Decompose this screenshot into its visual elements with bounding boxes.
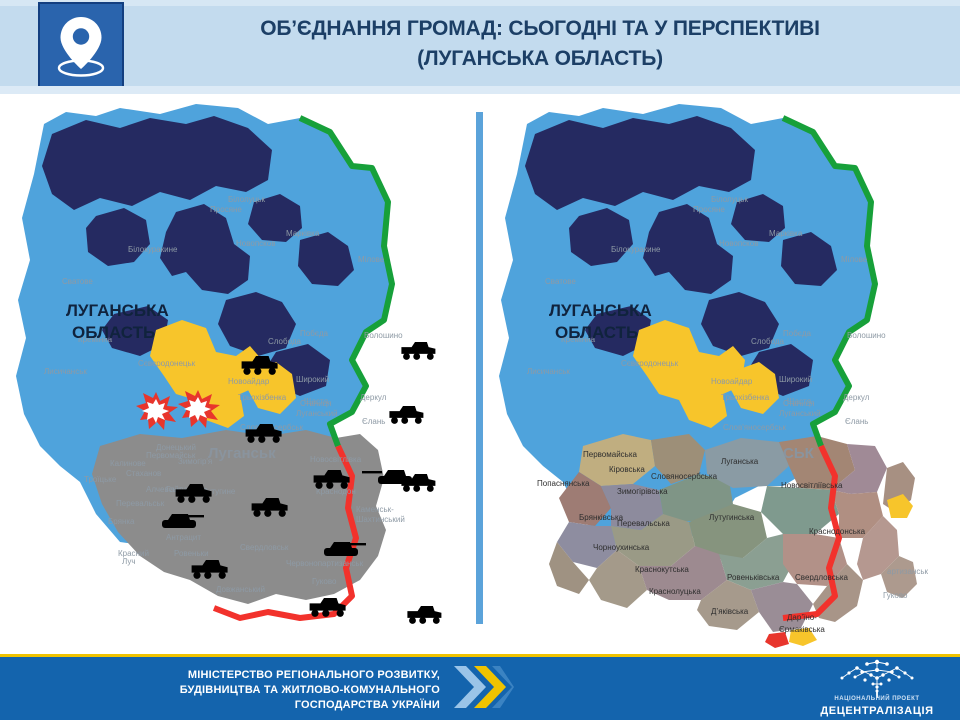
svg-text:Первомайська: Первомайська — [583, 450, 638, 459]
svg-text:Каменськ-: Каменськ- — [356, 505, 394, 514]
svg-text:Зимогірівська: Зимогірівська — [617, 487, 668, 496]
decentralization-tree-icon — [831, 656, 923, 698]
svg-text:Сєвєродонецьк: Сєвєродонецьк — [138, 359, 196, 368]
svg-text:Словяносербська: Словяносербська — [651, 472, 718, 481]
map-right-svg[interactable]: Білолуцьк Просяне Марківка Новопсков Міл… — [483, 94, 960, 654]
svg-text:Станиця: Станиця — [300, 399, 332, 408]
svg-text:Чорноухинська: Чорноухинська — [593, 543, 650, 552]
ministry-name: МІНІСТЕРСТВО РЕГІОНАЛЬНОГО РОЗВИТКУ, БУД… — [20, 668, 440, 713]
svg-text:Гуково: Гуково — [883, 591, 908, 600]
svg-text:Трьохізбенка: Трьохізбенка — [238, 393, 287, 402]
svg-text:Сєвєродонецьк: Сєвєродонецьк — [621, 359, 679, 368]
svg-text:Стаханов: Стаханов — [126, 469, 161, 478]
header-bottom-strip — [0, 86, 960, 94]
double-chevron-icon — [452, 664, 514, 710]
svg-text:Антрацит: Антрацит — [166, 533, 201, 542]
page-title-line1: ОБ’ЄДНАННЯ ГРОМАД: СЬОГОДНІ ТА У ПЕРСПЕК… — [150, 14, 930, 44]
svg-text:Побєда: Побєда — [300, 329, 329, 338]
city-label-luhansk: Луганськ — [208, 445, 276, 462]
svg-text:Просяне: Просяне — [693, 205, 725, 214]
svg-text:артизанськ: артизанськ — [887, 567, 929, 576]
ministry-line-2: БУДІВНИЦТВА ТА ЖИТЛОВО-КОМУНАЛЬНОГО — [20, 683, 440, 698]
svg-text:Троїцьке: Троїцьке — [84, 475, 117, 484]
location-pin-icon — [50, 13, 112, 79]
svg-text:Краснокутська: Краснокутська — [635, 565, 689, 574]
svg-text:Слобода: Слобода — [751, 337, 785, 346]
svg-text:Новосвітлівка: Новосвітлівка — [310, 455, 362, 464]
slide-footer: МІНІСТЕРСТВО РЕГІОНАЛЬНОГО РОЗВИТКУ, БУД… — [0, 654, 960, 720]
svg-text:Мілове: Мілове — [841, 255, 868, 264]
svg-text:ЛУГАНСЬКА: ЛУГАНСЬКА — [66, 301, 169, 320]
svg-text:Просяне: Просяне — [210, 205, 242, 214]
svg-text:Попаснянська: Попаснянська — [537, 479, 590, 488]
project-name: ДЕЦЕНТРАЛІЗАЦІЯ — [802, 705, 952, 717]
svg-text:Калинове: Калинове — [110, 459, 146, 468]
svg-text:Ровеньківська: Ровеньківська — [727, 573, 780, 582]
svg-text:Краснолуцька: Краснолуцька — [649, 587, 701, 596]
svg-text:Лисичанськ: Лисичанськ — [527, 367, 570, 376]
svg-text:Брянка: Брянка — [108, 517, 135, 526]
slide-root: ОБ’ЄДНАННЯ ГРОМАД: СЬОГОДНІ ТА У ПЕРСПЕК… — [0, 0, 960, 720]
svg-text:Єрмаківська: Єрмаківська — [779, 625, 825, 634]
svg-text:Новоайдар: Новоайдар — [711, 377, 753, 386]
svg-text:Лисичанськ: Лисичанськ — [44, 367, 87, 376]
svg-text:Свердловськ: Свердловськ — [240, 543, 289, 552]
decentralization-logo: НАЦІОНАЛЬНИЙ ПРОЕКТ ДЕЦЕНТРАЛІЗАЦІЯ — [802, 656, 952, 720]
header-top-strip — [0, 0, 960, 6]
svg-text:Єлань: Єлань — [362, 417, 385, 426]
svg-text:Волошино: Волошино — [364, 331, 403, 340]
page-title-line2: (ЛУГАНСЬКА ОБЛАСТЬ) — [150, 44, 930, 74]
svg-text:Білокуракине: Білокуракине — [611, 245, 661, 254]
svg-text:Перевальська: Перевальська — [617, 519, 670, 528]
svg-text:Червонопартизанськ: Червонопартизанськ — [286, 559, 364, 568]
svg-text:Луганська: Луганська — [721, 457, 759, 466]
svg-text:Луганський: Луганський — [296, 409, 338, 418]
svg-text:Білолуцьк: Білолуцьк — [711, 195, 748, 204]
map-left-panel[interactable]: Білолуцьк Просяне Марківка Новопсков Міл… — [0, 94, 476, 654]
svg-text:Д’яківська: Д’яківська — [711, 607, 749, 616]
svg-text:Слов'яносербськ: Слов'яносербськ — [723, 423, 787, 432]
ministry-line-3: ГОСПОДАРСТВА УКРАЇНИ — [20, 698, 440, 713]
svg-text:Сватове: Сватове — [545, 277, 576, 286]
svg-text:Деркул: Деркул — [843, 393, 870, 402]
maps-container: Білолуцьк Просяне Марківка Новопсков Міл… — [0, 94, 960, 654]
svg-text:Сватове: Сватове — [62, 277, 93, 286]
svg-text:Волошино: Волошино — [847, 331, 886, 340]
svg-text:Новосвітліївська: Новосвітліївська — [781, 481, 843, 490]
svg-text:Довжанський: Довжанський — [216, 585, 265, 594]
svg-text:Перевальськ: Перевальськ — [116, 499, 165, 508]
svg-text:ОБЛАСТЬ: ОБЛАСТЬ — [72, 323, 155, 342]
svg-text:Краснодон: Краснодон — [316, 487, 356, 496]
svg-text:Луч: Луч — [122, 557, 136, 566]
svg-text:Мілове: Мілове — [358, 255, 385, 264]
svg-text:Станиця: Станиця — [783, 399, 815, 408]
map-left-svg[interactable]: Білолуцьк Просяне Марківка Новопсков Міл… — [0, 94, 476, 654]
svg-text:Новоайдар: Новоайдар — [228, 377, 270, 386]
svg-text:ЛУГАНСЬКА: ЛУГАНСЬКА — [549, 301, 652, 320]
svg-text:Марківка: Марківка — [286, 229, 320, 238]
svg-text:Білолуцьк: Білолуцьк — [228, 195, 265, 204]
svg-text:Краснодонська: Краснодонська — [809, 527, 866, 536]
slide-header: ОБ’ЄДНАННЯ ГРОМАД: СЬОГОДНІ ТА У ПЕРСПЕК… — [0, 0, 960, 94]
svg-text:Шахтинський: Шахтинський — [356, 515, 405, 524]
svg-text:ОБЛАСТЬ: ОБЛАСТЬ — [555, 323, 638, 342]
ministry-line-1: МІНІСТЕРСТВО РЕГІОНАЛЬНОГО РОЗВИТКУ, — [20, 668, 440, 683]
svg-text:Гуково: Гуково — [312, 577, 337, 586]
svg-text:Широкий: Широкий — [296, 375, 329, 384]
svg-text:Луганський: Луганський — [779, 409, 821, 418]
svg-text:Єлань: Єлань — [845, 417, 868, 426]
svg-text:Дар’їно-: Дар’їно- — [787, 613, 817, 622]
svg-text:Широкий: Широкий — [779, 375, 812, 384]
svg-text:Білокуракине: Білокуракине — [128, 245, 178, 254]
svg-text:Кіровська: Кіровська — [609, 465, 645, 474]
svg-text:Ровеньки: Ровеньки — [174, 549, 209, 558]
maps-divider — [476, 112, 483, 624]
location-pin-logo — [38, 2, 124, 90]
svg-text:Побєда: Побєда — [783, 329, 812, 338]
map-right-panel[interactable]: Білолуцьк Просяне Марківка Новопсков Міл… — [483, 94, 960, 654]
svg-text:Трьохізбенка: Трьохізбенка — [721, 393, 770, 402]
svg-text:Новопсков: Новопсков — [719, 239, 758, 248]
svg-text:Лутугинська: Лутугинська — [709, 513, 755, 522]
svg-text:Деркул: Деркул — [360, 393, 387, 402]
page-title: ОБ’ЄДНАННЯ ГРОМАД: СЬОГОДНІ ТА У ПЕРСПЕК… — [150, 14, 930, 74]
city-label-luhansk: СЬК — [783, 445, 815, 462]
svg-text:Марківка: Марківка — [769, 229, 803, 238]
svg-text:Слобода: Слобода — [268, 337, 302, 346]
svg-text:Новопсков: Новопсков — [236, 239, 275, 248]
project-caption: НАЦІОНАЛЬНИЙ ПРОЕКТ — [802, 696, 952, 702]
svg-text:Свердловська: Свердловська — [795, 573, 849, 582]
